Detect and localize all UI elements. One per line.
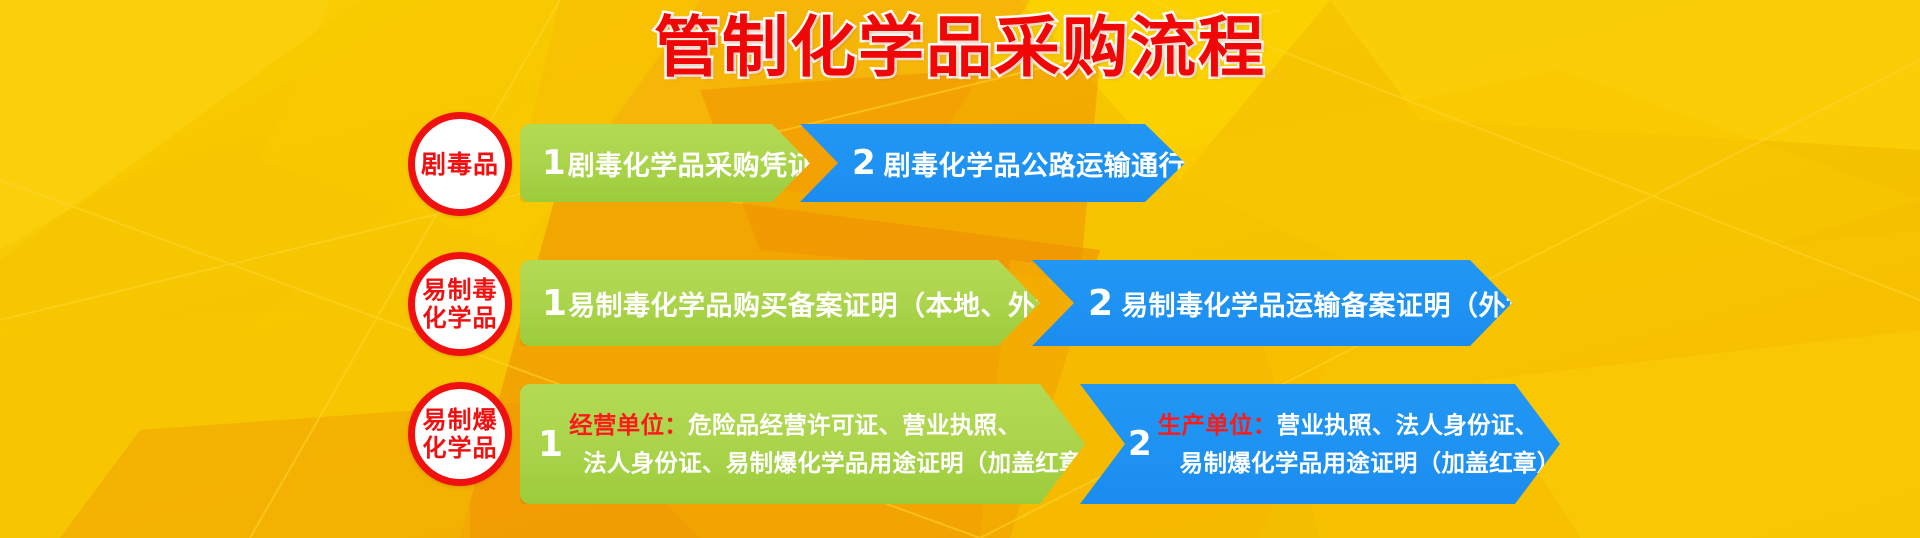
step-1-toxic[interactable]: 1 剧毒化学品采购凭证	[520, 124, 810, 202]
step-number: 2	[1128, 424, 1152, 464]
flow-row-precursor: 易制毒 化学品 1 易制毒化学品购买备案证明（本地、外地） 2 易制毒化学品运输…	[0, 252, 1920, 372]
step-1-explosive-precursor[interactable]: 1 经营单位：危险品经营许可证、营业执照、 法人身份证、易制爆化学品用途证明（加…	[520, 384, 1085, 504]
step-label-text: 危险品经营许可证、营业执照、	[688, 411, 1021, 439]
step-label-line-2: 法人身份证、易制爆化学品用途证明（加盖红章）	[569, 444, 1107, 482]
flow-row-toxic: 剧毒品 1 剧毒化学品采购凭证 2 剧毒化学品公路运输通行证	[0, 112, 1920, 232]
step-2-precursor[interactable]: 2 易制毒化学品运输备案证明（外地）	[1032, 260, 1512, 346]
title-container: 管制化学品采购流程	[0, 6, 1920, 90]
step-2-toxic[interactable]: 2 剧毒化学品公路运输通行证	[800, 124, 1185, 202]
step-number: 1	[542, 283, 567, 324]
badge-line: 易制爆	[423, 406, 498, 434]
step-label: 剧毒化学品公路运输通行证	[884, 144, 1214, 183]
category-badge-toxic: 剧毒品	[408, 112, 512, 216]
step-label-line-1: 经营单位：危险品经营许可证、营业执照、	[569, 406, 1107, 444]
step-number: 2	[852, 143, 876, 183]
badge-line: 剧毒品	[421, 150, 499, 179]
step-number: 1	[542, 143, 566, 183]
badge-line: 化学品	[423, 304, 498, 332]
step-label-line-2: 易制爆化学品用途证明（加盖红章）	[1158, 444, 1561, 482]
flow-row-explosive-precursor: 易制爆 化学品 1 经营单位：危险品经营许可证、营业执照、 法人身份证、易制爆化…	[0, 382, 1920, 502]
step-label-emphasis: 经营单位：	[569, 411, 688, 439]
step-label-line-1: 生产单位：营业执照、法人身份证、	[1158, 406, 1561, 444]
step-label: 剧毒化学品采购凭证	[568, 144, 816, 183]
badge-line: 化学品	[423, 434, 498, 462]
step-number: 1	[538, 424, 563, 465]
page-title: 管制化学品采购流程	[654, 6, 1266, 90]
category-badge-precursor: 易制毒 化学品	[408, 252, 512, 356]
step-number: 2	[1088, 283, 1113, 324]
step-1-precursor[interactable]: 1 易制毒化学品购买备案证明（本地、外地）	[520, 260, 1040, 346]
step-label-emphasis: 生产单位：	[1158, 411, 1277, 439]
badge-line: 易制毒	[423, 276, 498, 304]
step-2-explosive-precursor[interactable]: 2 生产单位：营业执照、法人身份证、 易制爆化学品用途证明（加盖红章）	[1080, 384, 1560, 504]
category-badge-explosive-precursor: 易制爆 化学品	[408, 382, 512, 486]
step-label: 易制毒化学品购买备案证明（本地、外地）	[568, 284, 1091, 323]
step-label-block: 经营单位：危险品经营许可证、营业执照、 法人身份证、易制爆化学品用途证明（加盖红…	[569, 406, 1107, 482]
step-label-text: 营业执照、法人身份证、	[1277, 411, 1539, 439]
step-label: 易制毒化学品运输备案证明（外地）	[1121, 284, 1561, 323]
banner-poster: 管制化学品采购流程 剧毒品 1 剧毒化学品采购凭证 2 剧毒化学品公路运输通行证…	[0, 0, 1920, 538]
step-label-block: 生产单位：营业执照、法人身份证、 易制爆化学品用途证明（加盖红章）	[1158, 406, 1561, 482]
